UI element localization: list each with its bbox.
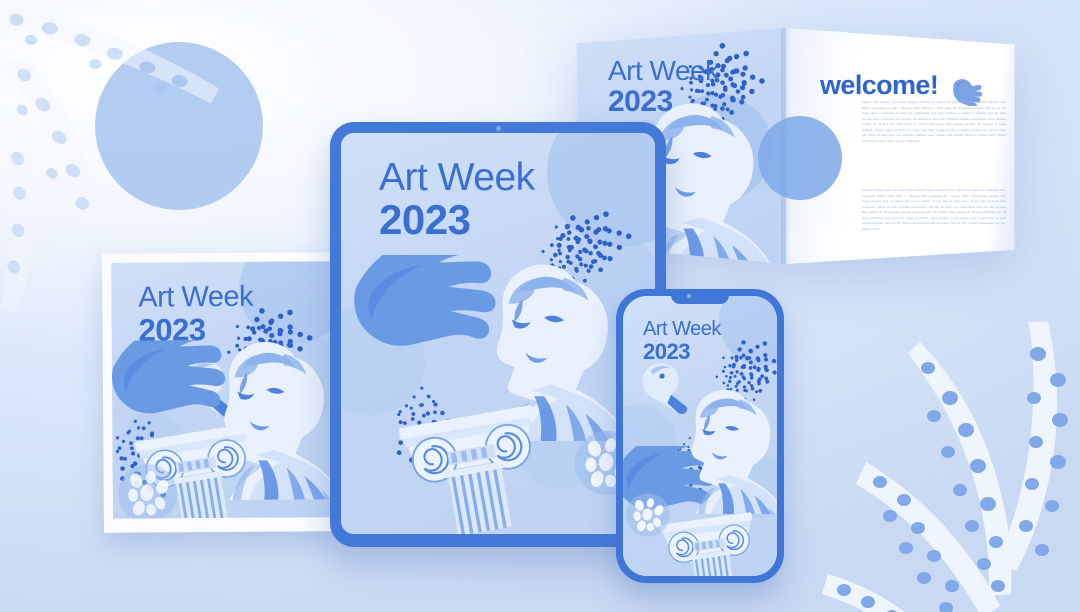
brochure-title-line1: Art Week	[608, 58, 719, 85]
tablet-title: Art Week 2023	[379, 159, 535, 241]
tablet-title-line2: 2023	[379, 200, 535, 240]
poster-title: Art Week 2023	[138, 284, 253, 345]
phone-title-line1: Art Week	[643, 320, 721, 339]
phone-title-line2: 2023	[643, 341, 721, 362]
brochure-half-circle-shape	[758, 116, 842, 200]
brochure-body-paragraph-2: Praesent molestie quam nec ante fringill…	[862, 188, 1006, 232]
tablet-camera-icon	[496, 126, 501, 131]
phone-camera-icon	[687, 294, 691, 298]
brochure-left-title: Art Week 2023	[608, 58, 719, 117]
brochure-body-paragraph-1: Aliquam erat volutpat. Orci varius natoq…	[862, 100, 1006, 144]
tablet-title-line1: Art Week	[379, 159, 535, 196]
brochure-title-line2: 2023	[608, 88, 719, 117]
phone-notch	[671, 289, 729, 304]
phone-title: Art Week 2023	[643, 320, 721, 362]
phone-device[interactable]: Art Week 2023	[616, 289, 784, 583]
poster-artwork: Art Week 2023	[111, 261, 336, 519]
phone-screen[interactable]: Art Week 2023	[623, 296, 777, 576]
dotted-leaf-cluster	[800, 302, 1080, 612]
mockup-scene: Art Week 2023 welcome! Aliquam erat volu…	[0, 0, 1080, 612]
tablet-screen[interactable]: Art Week 2023	[341, 133, 655, 534]
poster-title-line2: 2023	[138, 315, 253, 346]
square-poster[interactable]: Art Week 2023	[102, 252, 345, 533]
welcome-heading: welcome!	[820, 70, 938, 101]
poster-title-line1: Art Week	[138, 284, 253, 313]
